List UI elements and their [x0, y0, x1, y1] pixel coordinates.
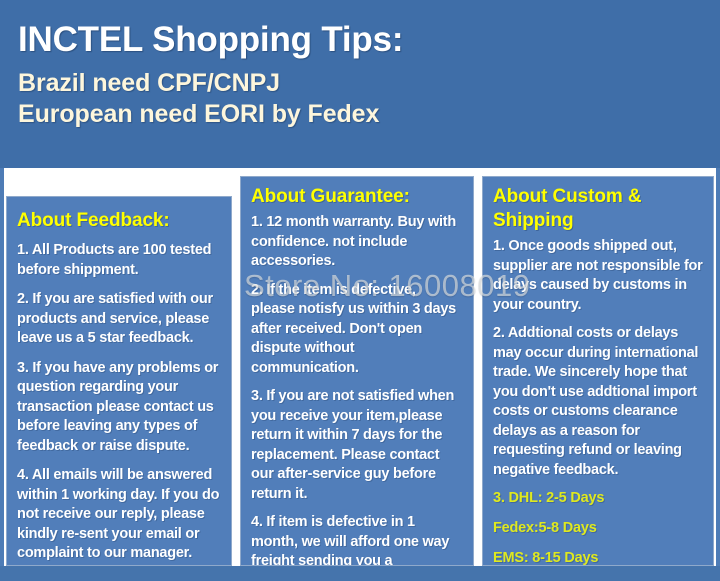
shipping-method-dhl: 3. DHL: 2-5 Days: [493, 489, 703, 508]
feedback-item-3: 3. If you have any problems or question …: [17, 359, 221, 457]
banner-title: INCTEL Shopping Tips:: [18, 18, 720, 62]
right-edge-strip: [716, 168, 720, 566]
feedback-item-2: 2. If you are satisfied with our product…: [17, 290, 221, 349]
shipping-item-2: 2. Addtional costs or delays may occur d…: [493, 324, 703, 480]
panel-shipping-heading: About Custom & Shipping: [493, 185, 703, 233]
header-note-european: European need EORI by Fedex: [18, 99, 720, 130]
left-edge-strip: [0, 168, 4, 566]
panel-about-custom-shipping: About Custom & Shipping 1. Once goods sh…: [482, 176, 714, 566]
guarantee-item-1: 1. 12 month warranty. Buy with confidenc…: [251, 213, 463, 272]
footer-band: [0, 566, 720, 581]
shipping-item-1: 1. Once goods shipped out, supplier are …: [493, 237, 703, 315]
shipping-method-ems: EMS: 8-15 Days: [493, 549, 703, 566]
shipping-method-fedex: Fedex:5-8 Days: [493, 519, 703, 538]
panel-feedback-heading: About Feedback:: [17, 209, 221, 233]
banner-header: INCTEL Shopping Tips: Brazil need CPF/CN…: [0, 0, 720, 168]
panel-about-feedback: About Feedback: 1. All Products are 100 …: [6, 196, 232, 566]
header-note-brazil: Brazil need CPF/CNPJ: [18, 68, 720, 99]
guarantee-item-3: 3. If you are not satisfied when you rec…: [251, 387, 463, 504]
guarantee-item-2: 2. If the item is defective, please noti…: [251, 281, 463, 379]
feedback-item-4: 4. All emails will be answered within 1 …: [17, 466, 221, 564]
feedback-item-1: 1. All Products are 100 tested before sh…: [17, 241, 221, 280]
panel-about-guarantee: About Guarantee: 1. 12 month warranty. B…: [240, 176, 474, 566]
panel-guarantee-heading: About Guarantee:: [251, 185, 463, 209]
shopping-tips-banner: INCTEL Shopping Tips: Brazil need CPF/CN…: [0, 0, 720, 581]
guarantee-item-4: 4. If item is defective in 1 month, we w…: [251, 513, 463, 566]
